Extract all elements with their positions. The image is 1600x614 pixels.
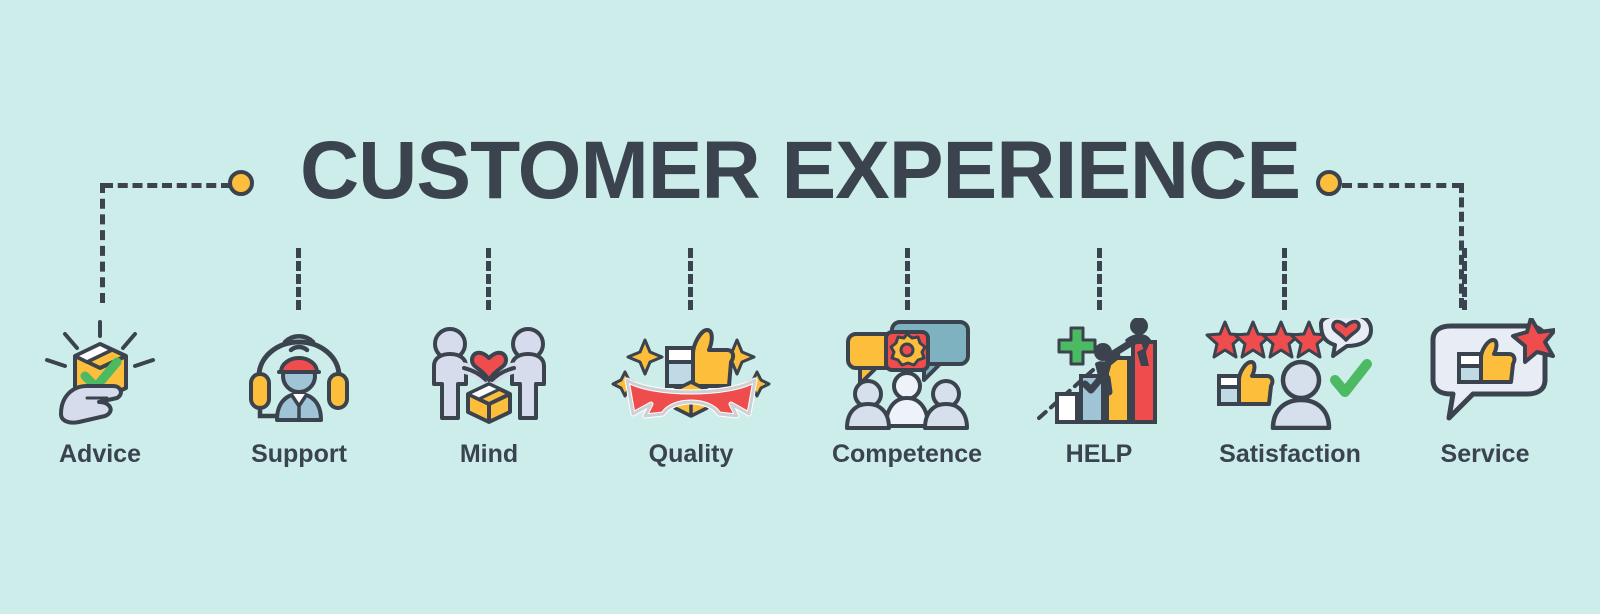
item-quality[interactable]: Quality (596, 318, 786, 469)
item-satisfaction[interactable]: Satisfaction (1195, 318, 1385, 469)
tick-connector-support (296, 248, 301, 310)
stars-thumbs-up-person-check-icon (1195, 318, 1385, 430)
connector-dot-left (228, 170, 254, 196)
item-label: Quality (596, 440, 786, 469)
item-label: Satisfaction (1195, 440, 1385, 469)
thumbs-up-ribbon-stars-icon (596, 318, 786, 430)
hand-holding-box-check-icon (5, 318, 195, 430)
item-label: HELP (1004, 440, 1194, 469)
item-support[interactable]: Support (204, 318, 394, 469)
item-mind[interactable]: Mind (394, 318, 584, 469)
helping-hand-bar-chart-icon (1004, 318, 1194, 430)
tick-connector-competence (905, 248, 910, 310)
item-label: Mind (394, 440, 584, 469)
tick-connector-service (1462, 248, 1467, 310)
tick-connector-mind (486, 248, 491, 310)
two-people-heart-box-icon (394, 318, 584, 430)
frame-dash-right-horizontal (1342, 183, 1462, 188)
item-service[interactable]: Service (1390, 318, 1580, 469)
item-help[interactable]: HELP (1004, 318, 1194, 469)
tick-connector-satisfaction (1282, 248, 1287, 310)
tick-connector-quality (688, 248, 693, 310)
item-label: Advice (5, 440, 195, 469)
frame-dash-left-horizontal (103, 183, 231, 188)
speech-bubble-thumbs-up-star-icon (1390, 318, 1580, 430)
customer-experience-banner: CUSTOMER EXPERIENCE (0, 0, 1600, 614)
item-competence[interactable]: Competence (812, 318, 1002, 469)
connector-dot-right (1316, 170, 1342, 196)
frame-dash-left-vertical (100, 183, 105, 303)
tick-connector-help (1097, 248, 1102, 310)
item-label: Service (1390, 440, 1580, 469)
item-label: Support (204, 440, 394, 469)
people-speech-bubbles-gear-icon (812, 318, 1002, 430)
item-label: Competence (812, 440, 1002, 469)
headset-agent-icon (204, 318, 394, 430)
item-advice[interactable]: Advice (5, 318, 195, 469)
